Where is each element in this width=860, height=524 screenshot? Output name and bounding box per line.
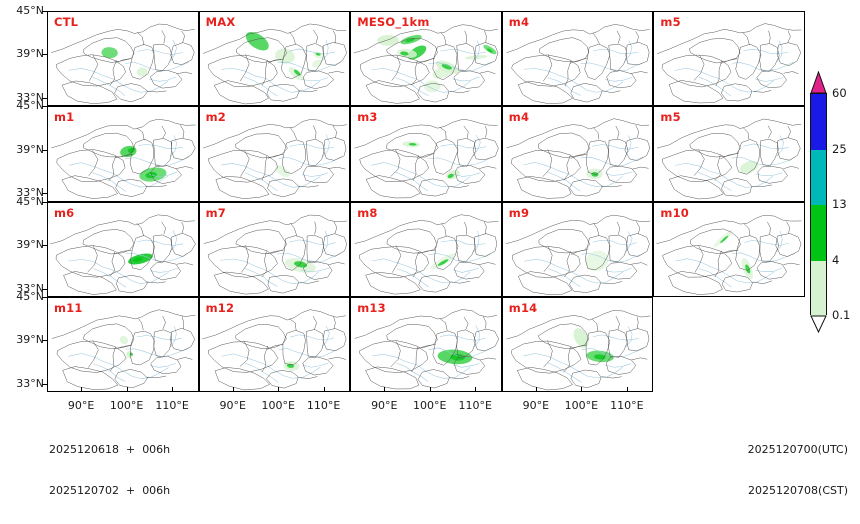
colorbar-segment-25-60 bbox=[811, 94, 826, 151]
map-panel-grid: CTLMAXMESO_1kmm4m5m1m2m3m4m5m6m7m8m9m10m… bbox=[47, 11, 805, 392]
panel-label-m14: m14 bbox=[509, 301, 538, 315]
lon-tick-label: 90°E bbox=[361, 399, 407, 412]
panel-label-m3: m3 bbox=[357, 110, 377, 124]
lon-tick-mark bbox=[581, 387, 582, 392]
panel-label-max: MAX bbox=[206, 15, 236, 29]
lon-tick-label: 90°E bbox=[513, 399, 559, 412]
panel-label-m9: m9 bbox=[509, 206, 529, 220]
lat-tick-label: 33°N bbox=[0, 377, 44, 390]
map-panel-m5[interactable]: m5 bbox=[653, 11, 805, 106]
footer-init-line2: 2025120702 + 006h bbox=[49, 484, 170, 498]
map-panel-max[interactable]: MAX bbox=[199, 11, 351, 106]
map-panel-m11[interactable]: m11 bbox=[47, 297, 199, 392]
lon-tick-label: 110°E bbox=[604, 399, 650, 412]
map-panel-m4[interactable]: m4 bbox=[502, 11, 654, 106]
lat-tick-mark bbox=[42, 106, 47, 107]
footer-valid-utc: 2025120700(UTC) bbox=[748, 443, 848, 457]
footer-valid-cst: 2025120708(CST) bbox=[748, 484, 848, 498]
panel-label-m4: m4 bbox=[509, 110, 529, 124]
lon-tick-mark bbox=[475, 387, 476, 392]
lat-tick-mark bbox=[42, 150, 47, 151]
colorbar-tick-13: 13 bbox=[832, 197, 847, 211]
lon-tick-label: 110°E bbox=[452, 399, 498, 412]
lat-tick-label: 39°N bbox=[0, 143, 44, 156]
footer-right: 2025120700(UTC) 2025120708(CST) bbox=[748, 416, 848, 524]
panel-label-m1: m1 bbox=[54, 110, 74, 124]
map-panel-m10[interactable]: m10 bbox=[653, 202, 805, 297]
colorbar-segment-13-25 bbox=[811, 150, 826, 207]
lat-tick-label: 45°N bbox=[0, 99, 44, 112]
lon-tick-label: 110°E bbox=[301, 399, 347, 412]
lon-tick-mark bbox=[536, 387, 537, 392]
panel-label-m7: m7 bbox=[206, 206, 226, 220]
colorbar-segment-0.1-4 bbox=[811, 261, 826, 317]
panel-label-m10: m10 bbox=[660, 206, 689, 220]
map-panel-m6[interactable]: m6 bbox=[47, 202, 199, 297]
map-panel-m1[interactable]: m1 bbox=[47, 106, 199, 201]
footer-init-line1: 2025120618 + 006h bbox=[49, 443, 170, 457]
colorbar-under-arrow bbox=[810, 315, 827, 333]
lat-tick-mark bbox=[42, 297, 47, 298]
panel-label-m5: m5 bbox=[660, 15, 680, 29]
lon-tick-mark bbox=[81, 387, 82, 392]
lat-tick-label: 39°N bbox=[0, 238, 44, 251]
lon-tick-mark bbox=[384, 387, 385, 392]
lat-tick-mark bbox=[42, 54, 47, 55]
lon-tick-mark bbox=[127, 387, 128, 392]
lat-tick-mark bbox=[42, 245, 47, 246]
lon-tick-mark bbox=[430, 387, 431, 392]
panel-label-meso_1km: MESO_1km bbox=[357, 15, 429, 29]
map-panel-m4[interactable]: m4 bbox=[502, 106, 654, 201]
lat-tick-mark bbox=[42, 340, 47, 341]
panel-label-m8: m8 bbox=[357, 206, 377, 220]
lat-tick-label: 45°N bbox=[0, 4, 44, 17]
map-panel-m2[interactable]: m2 bbox=[199, 106, 351, 201]
panel-label-m11: m11 bbox=[54, 301, 83, 315]
footer-left: 2025120618 + 006h 2025120702 + 006h bbox=[49, 416, 170, 524]
lon-tick-label: 90°E bbox=[58, 399, 104, 412]
lat-tick-label: 39°N bbox=[0, 47, 44, 60]
lon-tick-mark bbox=[172, 387, 173, 392]
colorbar-tick-25: 25 bbox=[832, 142, 847, 156]
lat-tick-mark bbox=[42, 202, 47, 203]
lon-tick-mark bbox=[233, 387, 234, 392]
map-panel-m3[interactable]: m3 bbox=[350, 106, 502, 201]
map-panel-m14[interactable]: m14 bbox=[502, 297, 654, 392]
colorbar-over-arrow bbox=[810, 71, 827, 94]
lon-tick-label: 100°E bbox=[558, 399, 604, 412]
lat-tick-mark bbox=[42, 11, 47, 12]
map-panel-meso_1km[interactable]: MESO_1km bbox=[350, 11, 502, 106]
panel-label-m5: m5 bbox=[660, 110, 680, 124]
map-panel-m9[interactable]: m9 bbox=[502, 202, 654, 297]
map-panel-m13[interactable]: m13 bbox=[350, 297, 502, 392]
panel-label-m2: m2 bbox=[206, 110, 226, 124]
lon-tick-label: 110°E bbox=[149, 399, 195, 412]
colorbar-segment-4-13 bbox=[811, 205, 826, 262]
lat-tick-mark bbox=[42, 384, 47, 385]
colorbar-tick-0.1: 0.1 bbox=[832, 308, 850, 322]
lon-tick-label: 100°E bbox=[255, 399, 301, 412]
lon-tick-label: 90°E bbox=[210, 399, 256, 412]
map-panel-m8[interactable]: m8 bbox=[350, 202, 502, 297]
panel-label-m4: m4 bbox=[509, 15, 529, 29]
colorbar-tick-4: 4 bbox=[832, 253, 839, 267]
panel-label-m13: m13 bbox=[357, 301, 386, 315]
panel-label-m6: m6 bbox=[54, 206, 74, 220]
map-panel-m5[interactable]: m5 bbox=[653, 106, 805, 201]
lon-tick-mark bbox=[324, 387, 325, 392]
lon-tick-mark bbox=[627, 387, 628, 392]
map-panel-ctl[interactable]: CTL bbox=[47, 11, 199, 106]
panel-label-m12: m12 bbox=[206, 301, 235, 315]
map-panel-m7[interactable]: m7 bbox=[199, 202, 351, 297]
lon-tick-label: 100°E bbox=[407, 399, 453, 412]
lat-tick-label: 45°N bbox=[0, 290, 44, 303]
lon-tick-mark bbox=[278, 387, 279, 392]
lat-tick-label: 45°N bbox=[0, 195, 44, 208]
colorbar bbox=[810, 93, 827, 315]
precipitation-ensemble-figure: East_Northwest rain6 (2025120702-2025120… bbox=[0, 0, 860, 454]
lon-tick-label: 100°E bbox=[104, 399, 150, 412]
map-panel-m12[interactable]: m12 bbox=[199, 297, 351, 392]
lat-tick-label: 39°N bbox=[0, 333, 44, 346]
colorbar-tick-60: 60 bbox=[832, 86, 847, 100]
panel-label-ctl: CTL bbox=[54, 15, 78, 29]
